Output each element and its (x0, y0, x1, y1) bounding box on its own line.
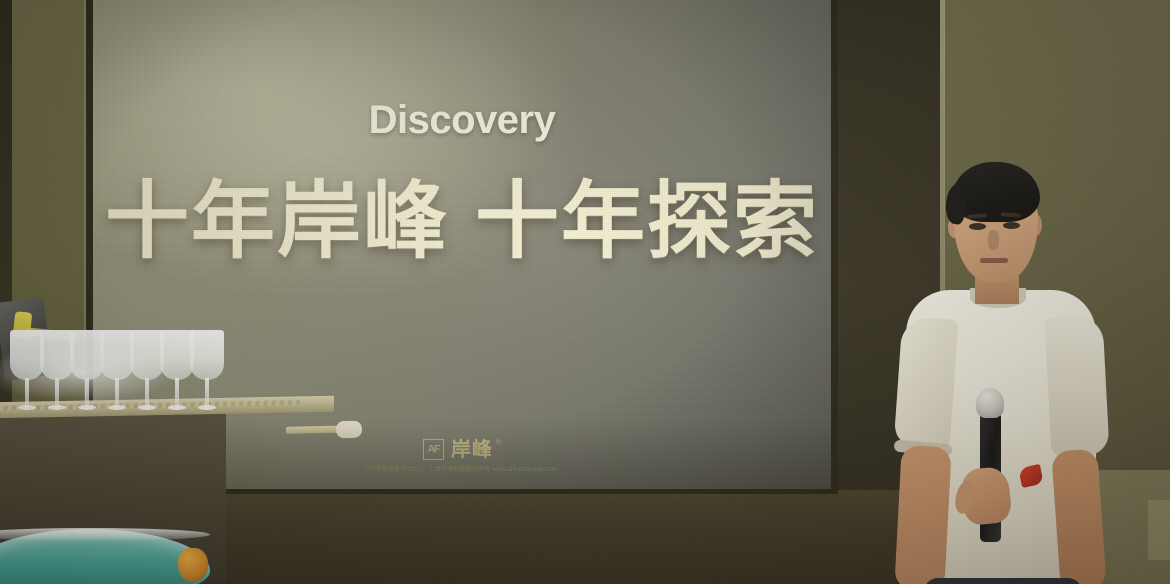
slide-headline: 十年岸峰十年探索 (93, 176, 831, 267)
wall-right-wainscot-accent (1148, 500, 1170, 560)
presenter-mouth (980, 258, 1008, 263)
presenter (880, 150, 1130, 584)
presenter-arm-right (1051, 449, 1107, 584)
presenter-shoulder-right (1044, 315, 1109, 458)
af-monogram-icon: AF (423, 439, 444, 460)
brand-logo: AF 岸峰 ® (423, 439, 501, 460)
presenter-eye-right (1003, 222, 1020, 229)
glassware-group (10, 326, 230, 410)
orange-object (178, 548, 208, 582)
rail-end-cap (336, 421, 362, 439)
wine-glass (100, 330, 134, 410)
presenter-nose (988, 230, 999, 250)
microphone-head-icon (976, 388, 1004, 418)
copyright-line: AF岸峰创意 © 2017，上海岸峰创意版权所有 www.arfourdesig… (367, 464, 557, 473)
slide-headline-right: 十年探索 (475, 174, 819, 268)
wine-glass (70, 330, 104, 410)
brand-wordmark: 岸峰 (451, 440, 493, 460)
website-url: www.arfourdesign.com (492, 467, 557, 473)
presenter-arm-left (894, 445, 951, 584)
registered-trademark-icon: ® (496, 439, 501, 446)
wine-glass (40, 330, 74, 410)
presenter-shoulder-left (894, 316, 959, 450)
slide-headline-left: 十年岸峰 (105, 174, 449, 268)
wine-glass (160, 330, 194, 410)
wine-glass (190, 330, 224, 410)
wine-glass (130, 330, 164, 410)
slide-title: Discovery (93, 98, 831, 143)
presenter-pants (924, 578, 1082, 584)
wine-glass (10, 330, 44, 410)
copyright-text: AF岸峰创意 © 2017，上海岸峰创意版权所有 (367, 467, 491, 473)
presentation-photo-scene: Discovery 十年岸峰十年探索 AF 岸峰 ® AF岸峰创意 © 2017… (0, 0, 1170, 584)
presenter-eye-left (969, 223, 986, 230)
